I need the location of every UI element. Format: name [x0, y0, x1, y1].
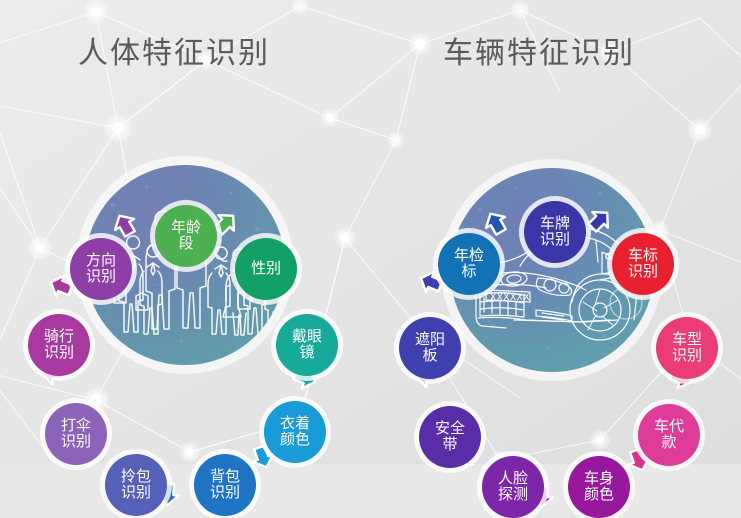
vehicle-bubble-5[interactable]: 人脸探测	[482, 456, 544, 518]
human-bubble-1[interactable]: 性别	[235, 238, 297, 300]
human-bubble-4[interactable]: 背包识别	[194, 454, 256, 516]
vehicle-bubble-1[interactable]: 车标识别	[612, 233, 674, 295]
vehicle-bubble-3[interactable]: 车代款	[638, 404, 700, 466]
svg-text:XXXXXX: XXXXXX	[490, 293, 530, 303]
bubble-label: 年检标	[452, 248, 486, 280]
bubble-label: 安全带	[433, 421, 467, 453]
bubble-label: 性别	[249, 261, 283, 277]
bubble-label: 车身颜色	[582, 471, 616, 503]
vehicle-bubble-0[interactable]: 车牌识别	[524, 201, 586, 263]
bubble-label: 背包识别	[208, 469, 242, 501]
vehicle-feature-diagram: XXXXXX	[372, 90, 741, 464]
vehicle-bubble-4[interactable]: 车身颜色	[568, 456, 630, 518]
bubble-label: 打伞识别	[59, 418, 93, 450]
bubble-label: 方向识别	[84, 253, 118, 285]
infographic-stage: 人体特征识别 车辆特征识别	[0, 0, 741, 464]
bubble-label: 人脸探测	[496, 471, 530, 503]
bubble-label: 遮阳板	[413, 332, 447, 364]
human-feature-diagram: 年龄段性别戴眼镜衣着颜色背包识别拎包识别打伞识别骑行识别方向识别	[0, 90, 370, 464]
bubble-label: 车标识别	[626, 248, 660, 280]
bubble-label: 拎包识别	[119, 469, 153, 501]
human-bubble-0[interactable]: 年龄段	[155, 205, 217, 267]
human-bubble-2[interactable]: 戴眼镜	[276, 314, 338, 376]
page-title-left: 人体特征识别	[78, 28, 270, 72]
vehicle-bubble-2[interactable]: 车型识别	[656, 317, 718, 379]
bubble-label: 衣着颜色	[278, 416, 312, 448]
bubble-label: 车型识别	[670, 332, 704, 364]
bubble-label: 戴眼镜	[290, 329, 324, 361]
vehicle-bubble-8[interactable]: 年检标	[438, 233, 500, 295]
bubble-label: 骑行识别	[42, 329, 76, 361]
human-bubble-6[interactable]: 打伞识别	[45, 403, 107, 465]
human-bubble-8[interactable]: 方向识别	[70, 238, 132, 300]
human-bubble-3[interactable]: 衣着颜色	[264, 401, 326, 463]
vehicle-bubble-6[interactable]: 安全带	[419, 406, 481, 468]
page-title-right: 车辆特征识别	[443, 28, 635, 72]
bubble-label: 车牌识别	[538, 216, 572, 248]
bubble-label: 车代款	[652, 419, 686, 451]
human-bubble-7[interactable]: 骑行识别	[28, 314, 90, 376]
human-bubble-5[interactable]: 拎包识别	[105, 454, 167, 516]
vehicle-bubble-7[interactable]: 遮阳板	[399, 317, 461, 379]
bubble-label: 年龄段	[169, 220, 203, 252]
